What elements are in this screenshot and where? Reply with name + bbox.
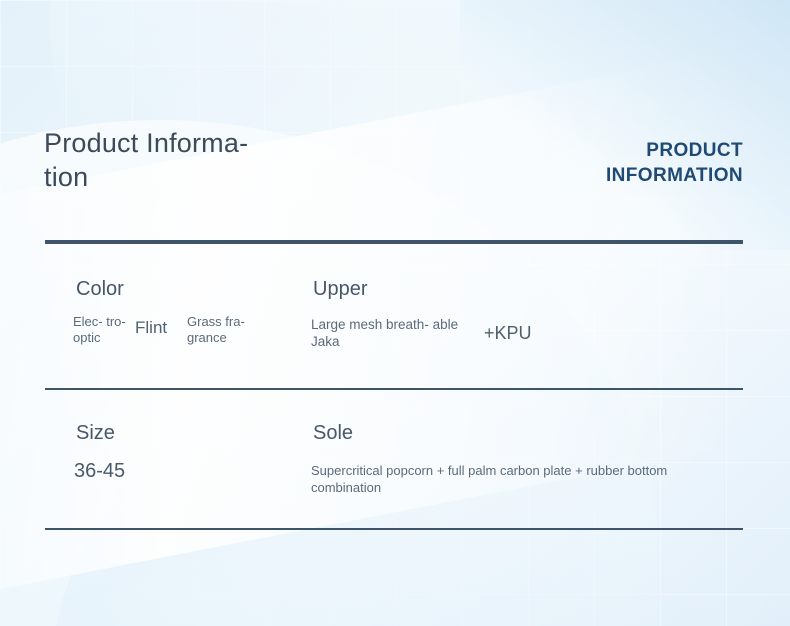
spec-label-sole: Sole	[313, 420, 353, 446]
spec-label-size: Size	[76, 420, 115, 446]
color-option-electro-optic: Elec- tro-optic	[73, 314, 135, 346]
page-subtitle-line-1: PRODUCT	[413, 138, 743, 163]
divider-bottom	[45, 528, 743, 530]
divider-middle	[45, 388, 743, 390]
upper-extra-text: +KPU	[471, 316, 532, 344]
divider-top	[45, 240, 743, 244]
page-title: Product Informa- tion	[44, 126, 304, 194]
product-information-slide: Product Informa- tion PRODUCT INFORMATIO…	[0, 0, 790, 626]
page-subtitle: PRODUCT INFORMATION	[413, 138, 743, 188]
slide-content: Product Informa- tion PRODUCT INFORMATIO…	[0, 0, 790, 626]
sole-value-text: Supercritical popcorn + full palm carbon…	[311, 462, 721, 496]
color-option-grass-fragrance: Grass fra- grance	[187, 314, 277, 346]
page-subtitle-line-2: INFORMATION	[413, 163, 743, 188]
spec-label-color: Color	[76, 276, 124, 302]
size-value-text: 36-45	[74, 458, 125, 484]
upper-value-group: Large mesh breath- able Jaka +KPU	[311, 316, 532, 350]
spec-label-upper: Upper	[313, 276, 367, 302]
color-option-flint: Flint	[135, 314, 187, 336]
page-title-line-1: Product Informa-	[44, 126, 304, 160]
upper-material-text: Large mesh breath- able Jaka	[311, 316, 471, 350]
color-option-list: Elec- tro-optic Flint Grass fra- grance	[73, 314, 303, 346]
page-title-line-2: tion	[44, 160, 304, 194]
